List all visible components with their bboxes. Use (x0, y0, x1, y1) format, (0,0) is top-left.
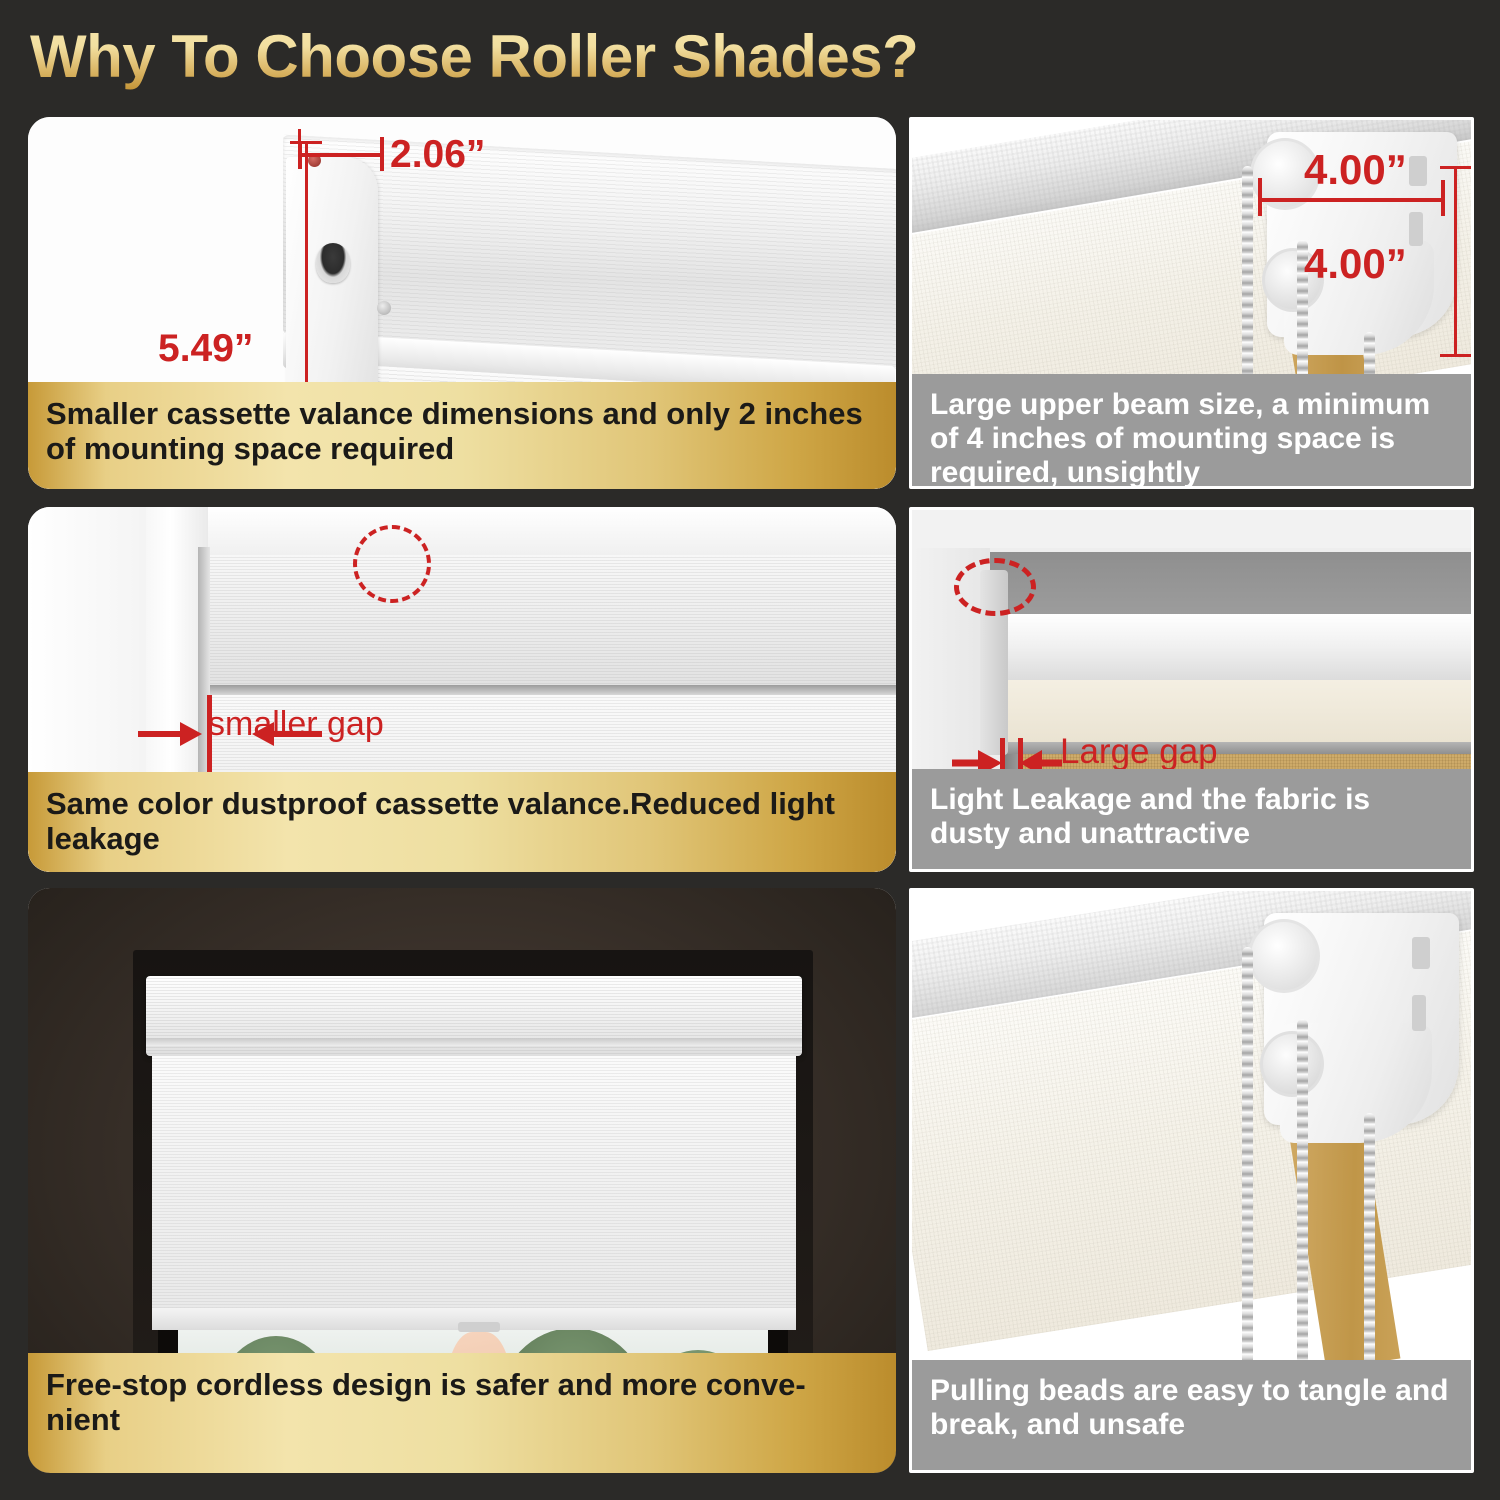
cassette-valance (208, 555, 896, 685)
bead-chain-1 (1242, 947, 1253, 1377)
gap-arrows-icon (136, 713, 326, 755)
pull-handle (458, 1322, 500, 1332)
width-dim-line (300, 153, 384, 157)
beam-height-tick-bottom (1440, 354, 1471, 357)
panel-smaller-gap: smaller gap Same color dustproof cassett… (28, 507, 896, 872)
beam-height-tick-top (1440, 166, 1471, 169)
width-dim-tick-left (298, 141, 302, 169)
gap-highlight-circle (954, 558, 1036, 616)
panel-cordless-design: Free-stop cordless design is safer and m… (28, 888, 896, 1473)
beam-width-label: 4.00” (1304, 146, 1407, 194)
beam-height-label: 4.00” (1304, 240, 1407, 288)
width-dimension-label: 2.06” (390, 133, 485, 177)
bead-chain-3 (1364, 1113, 1375, 1378)
roller-end-disc-lower (1260, 1031, 1324, 1097)
beam-width-tick-right (1441, 180, 1445, 216)
beam-width-tick-left (1258, 178, 1262, 216)
height-dim-tick-top (290, 141, 322, 144)
bracket-notch-1 (1412, 937, 1430, 969)
shade-fabric (152, 1056, 796, 1326)
upper-beam (990, 614, 1471, 680)
bracket-notch-2 (1412, 995, 1426, 1031)
bracket-notch-2 (1409, 212, 1423, 246)
panel-large-gap: Large gap Light Leakage and the fabric i… (909, 507, 1474, 872)
gap-label: Large gap (1060, 732, 1218, 772)
beam-height-dim-line (1454, 166, 1457, 356)
cassette-slot (316, 243, 350, 283)
roller-end-disc-upper (1248, 919, 1320, 993)
cassette-lip-line (146, 1038, 802, 1046)
panel-3-caption: Same color dustproof cassette valance.Re… (28, 772, 896, 872)
panel-1-caption: Smaller cassette valance dimensions and … (28, 382, 896, 489)
width-dim-tick-right (380, 137, 384, 171)
panel-large-upper-beam: 4.00” 4.00” Large upper beam size, a min… (909, 117, 1474, 489)
page-title: Why To Choose Roller Shades? (30, 22, 918, 91)
beam-width-dim-line (1260, 198, 1445, 202)
valance-shadow-line (208, 685, 896, 695)
panel-pulling-beads: Pulling beads are easy to tangle and bre… (909, 888, 1474, 1473)
panel-2-caption: Large upper beam size, a minimum of 4 in… (912, 374, 1471, 486)
ceiling-strip (912, 510, 1471, 548)
panel-5-caption: Free-stop cordless design is safer and m… (28, 1353, 896, 1473)
panel-4-caption: Light Leakage and the fabric is dusty an… (912, 769, 1471, 869)
frame-top-cap (208, 507, 896, 555)
panel-smaller-cassette: 2.06” 5.49” Smaller cassette valance dim… (28, 117, 896, 489)
bracket-notch-1 (1409, 156, 1427, 186)
cassette-bolt (377, 301, 391, 315)
bead-chain-2 (1297, 1019, 1308, 1379)
beam-shadow-face (990, 552, 1471, 614)
panel-6-caption: Pulling beads are easy to tangle and bre… (912, 1360, 1471, 1470)
height-dimension-label: 5.49” (158, 327, 253, 371)
gap-highlight-circle (353, 525, 431, 603)
